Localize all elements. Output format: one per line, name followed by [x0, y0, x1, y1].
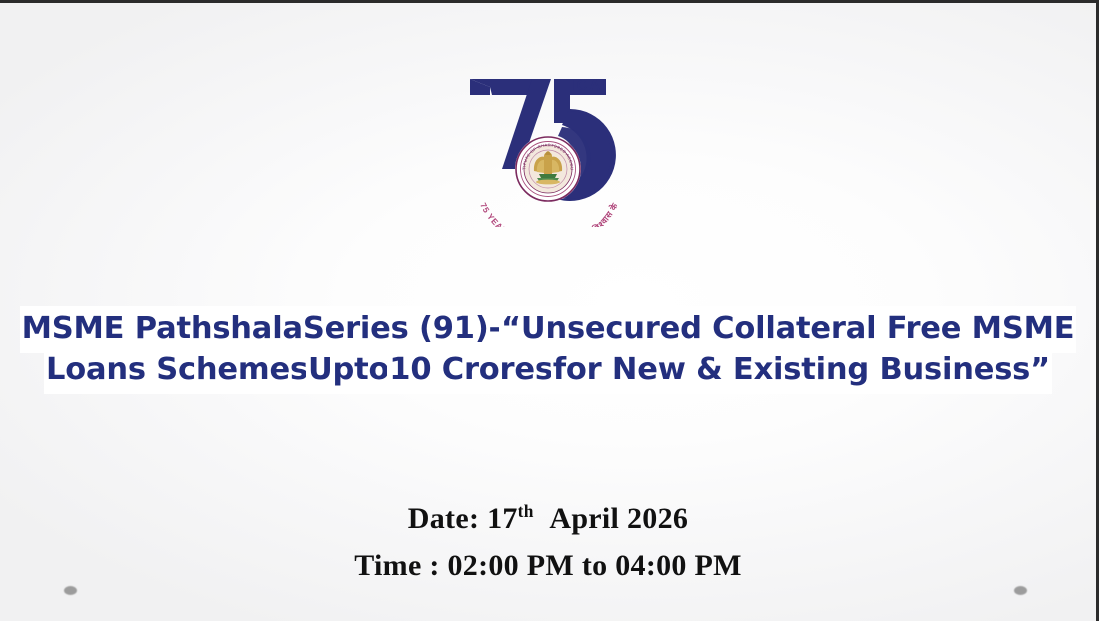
icai-acronym-text: ICAI	[570, 77, 609, 94]
title-segment: Loans Schemes	[46, 349, 308, 392]
slide-marker-dot-left	[64, 586, 77, 595]
event-schedule: Date: 17th April 2026 Time : 02:00 PM to…	[0, 495, 1096, 589]
event-time-line: Time : 02:00 PM to 04:00 PM	[0, 542, 1096, 589]
title-segment: Upto	[308, 349, 389, 392]
slide-title: MSME PathshalaSeries (91)-“Unsecured Col…	[0, 308, 1096, 390]
date-day: 17	[487, 502, 518, 535]
time-label: Time :	[354, 549, 439, 582]
title-line-2: Loans SchemesUpto10 Croresfor New & Exis…	[0, 349, 1096, 390]
time-start: 02:00 PM	[447, 549, 574, 582]
title-segment: “Unsecured Collateral Free MSME	[501, 308, 1074, 351]
slide-marker-dot-right	[1014, 586, 1027, 595]
logo-tagline-text: 75 YEARS OF TRUST | ७५ साल विश्वास के	[478, 201, 620, 227]
time-connector: to	[582, 549, 608, 582]
title-line-1: MSME PathshalaSeries (91)-“Unsecured Col…	[0, 308, 1096, 349]
title-segment: for New & Existing Business”	[553, 349, 1050, 392]
date-day-suffix: th	[518, 501, 534, 521]
title-segment: 10 Crores	[389, 349, 553, 392]
time-end: 04:00 PM	[615, 549, 742, 582]
event-date-line: Date: 17th April 2026	[0, 495, 1096, 542]
icai-75-years-logo-icon: ICAI THE INSTITUTE OF CHARTERED ACCOUNTA…	[458, 65, 638, 227]
title-segment: Series (91)-	[303, 308, 501, 351]
logo-container: ICAI THE INSTITUTE OF CHARTERED ACCOUNTA…	[0, 65, 1096, 227]
date-label: Date:	[408, 502, 479, 535]
date-month-year: April 2026	[549, 502, 688, 535]
presentation-slide: ICAI THE INSTITUTE OF CHARTERED ACCOUNTA…	[0, 0, 1099, 621]
title-segment: MSME Pathshala	[22, 308, 303, 351]
